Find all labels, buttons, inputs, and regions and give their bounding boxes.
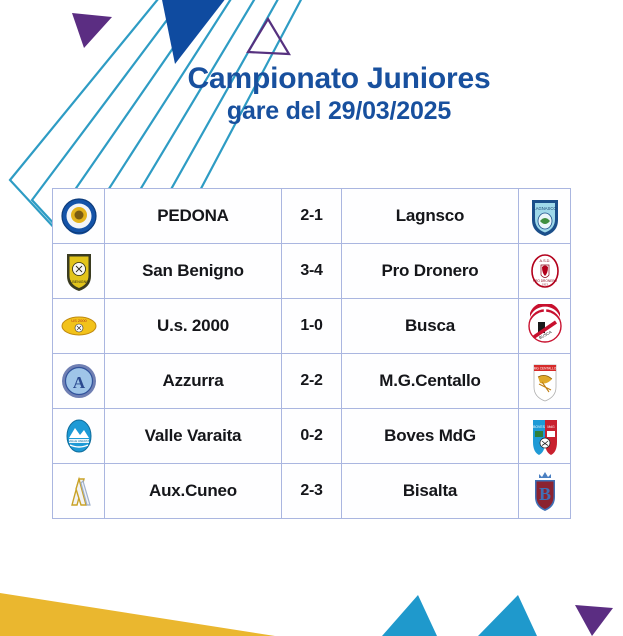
score-cell: 2-3 — [282, 464, 342, 519]
table-row: PEDONA 2-1 Lagnsco LAGNASCO — [53, 189, 571, 244]
boves-mdg-crest-icon: BOVES MdG — [525, 414, 565, 459]
score-cell: 2-1 — [282, 189, 342, 244]
score-cell: 3-4 — [282, 244, 342, 299]
home-team-name: U.s. 2000 — [157, 316, 229, 335]
home-team-cell: Valle Varaita — [105, 409, 282, 464]
away-team-cell: Lagnsco — [342, 189, 519, 244]
svg-text:A: A — [72, 373, 85, 392]
away-team-cell: Boves MdG — [342, 409, 519, 464]
svg-text:A.S.D.: A.S.D. — [539, 259, 550, 263]
table-row: Aux.Cuneo 2-3 Bisalta B — [53, 464, 571, 519]
mg-centallo-crest-icon: MG CENTALLO — [525, 359, 565, 404]
pro-dronero-crest-icon: A.S.D. PRO DRONERO 1913 — [525, 249, 565, 294]
home-team-cell: Aux.Cuneo — [105, 464, 282, 519]
svg-text:LAGNASCO: LAGNASCO — [533, 206, 557, 211]
home-team-cell: Azzurra — [105, 354, 282, 409]
lagnasco-crest-icon: LAGNASCO — [525, 194, 565, 239]
score-cell: 0-2 — [282, 409, 342, 464]
cyan-triangle-right-icon — [478, 595, 537, 636]
us2000-crest-icon: US 2000 — [59, 304, 99, 349]
blue-triangle-icon — [158, 0, 240, 64]
home-team-cell: PEDONA — [105, 189, 282, 244]
away-team-cell: M.G.Centallo — [342, 354, 519, 409]
results-table: PEDONA 2-1 Lagnsco LAGNASCO — [52, 188, 571, 519]
bottom-shapes-decoration — [0, 555, 623, 636]
table-row: S.BENIGNO San Benigno 3-4 Pro Dronero A.… — [53, 244, 571, 299]
page-title: Campionato Juniores — [55, 62, 623, 96]
away-crest-cell: B — [519, 464, 571, 519]
score-cell: 2-2 — [282, 354, 342, 409]
home-team-name: Azzurra — [163, 371, 224, 390]
cyan-triangle-left-icon — [382, 595, 437, 636]
azzurra-crest-icon: A — [59, 359, 99, 404]
purple-outline-triangle-icon — [248, 19, 289, 54]
svg-text:MG CENTALLO: MG CENTALLO — [533, 366, 556, 370]
match-score: 2-2 — [300, 372, 322, 389]
away-crest-cell: LAGNASCO — [519, 189, 571, 244]
home-crest-cell — [53, 464, 105, 519]
match-score: 1-0 — [300, 317, 322, 334]
match-score: 2-1 — [300, 207, 322, 224]
svg-text:PRO DRONERO: PRO DRONERO — [532, 279, 557, 283]
match-score: 0-2 — [300, 427, 322, 444]
svg-text:BOVES: BOVES — [533, 425, 545, 429]
valle-varaita-crest-icon: VALLE VARAITA — [59, 414, 99, 459]
svg-text:MdG: MdG — [547, 425, 555, 429]
score-cell: 1-0 — [282, 299, 342, 354]
san-benigno-crest-icon: S.BENIGNO — [59, 249, 99, 294]
match-score: 2-3 — [300, 482, 322, 499]
bisalta-crest-icon: B — [525, 469, 565, 514]
svg-text:S.BENIGNO: S.BENIGNO — [69, 280, 89, 284]
home-crest-cell: US 2000 — [53, 299, 105, 354]
away-team-name: Boves MdG — [384, 426, 476, 445]
away-team-cell: Busca — [342, 299, 519, 354]
match-score: 3-4 — [300, 262, 322, 279]
table-row: US 2000 U.s. 2000 1-0 Busca — [53, 299, 571, 354]
away-team-cell: Pro Dronero — [342, 244, 519, 299]
away-team-name: Pro Dronero — [382, 261, 479, 280]
table-row: VALLE VARAITA Valle Varaita 0-2 Boves Md… — [53, 409, 571, 464]
svg-text:1913: 1913 — [542, 282, 548, 286]
home-crest-cell: VALLE VARAITA — [53, 409, 105, 464]
page-title-block: Campionato Juniores gare del 29/03/2025 — [0, 62, 623, 126]
table-row: A Azzurra 2-2 M.G.Centallo MG CENTALLO — [53, 354, 571, 409]
busca-crest-icon: BUSCA — [525, 304, 565, 349]
svg-text:US 2000: US 2000 — [71, 318, 87, 323]
home-crest-cell: S.BENIGNO — [53, 244, 105, 299]
aux-cuneo-crest-icon — [59, 469, 99, 514]
yellow-wedge-icon — [0, 593, 275, 636]
away-team-name: Bisalta — [403, 481, 457, 500]
home-team-cell: San Benigno — [105, 244, 282, 299]
purple-filled-triangle-icon — [72, 13, 112, 48]
away-team-name: Lagnsco — [396, 206, 465, 225]
home-crest-cell: A — [53, 354, 105, 409]
svg-text:B: B — [538, 484, 550, 504]
home-team-name: Valle Varaita — [145, 426, 242, 445]
home-team-cell: U.s. 2000 — [105, 299, 282, 354]
away-team-name: Busca — [405, 316, 455, 335]
poster-root: Campionato Juniores gare del 29/03/2025 — [0, 0, 623, 636]
away-crest-cell: BUSCA — [519, 299, 571, 354]
page-subtitle: gare del 29/03/2025 — [55, 97, 623, 127]
away-team-name: M.G.Centallo — [379, 371, 481, 390]
home-team-name: PEDONA — [157, 206, 229, 225]
home-team-name: San Benigno — [142, 261, 244, 280]
pedona-crest-icon — [59, 194, 99, 239]
away-crest-cell: BOVES MdG — [519, 409, 571, 464]
away-team-cell: Bisalta — [342, 464, 519, 519]
purple-triangle-bottom-icon — [575, 605, 613, 636]
away-crest-cell: MG CENTALLO — [519, 354, 571, 409]
home-team-name: Aux.Cuneo — [149, 481, 237, 500]
home-crest-cell — [53, 189, 105, 244]
svg-text:VALLE VARAITA: VALLE VARAITA — [68, 439, 89, 443]
away-crest-cell: A.S.D. PRO DRONERO 1913 — [519, 244, 571, 299]
